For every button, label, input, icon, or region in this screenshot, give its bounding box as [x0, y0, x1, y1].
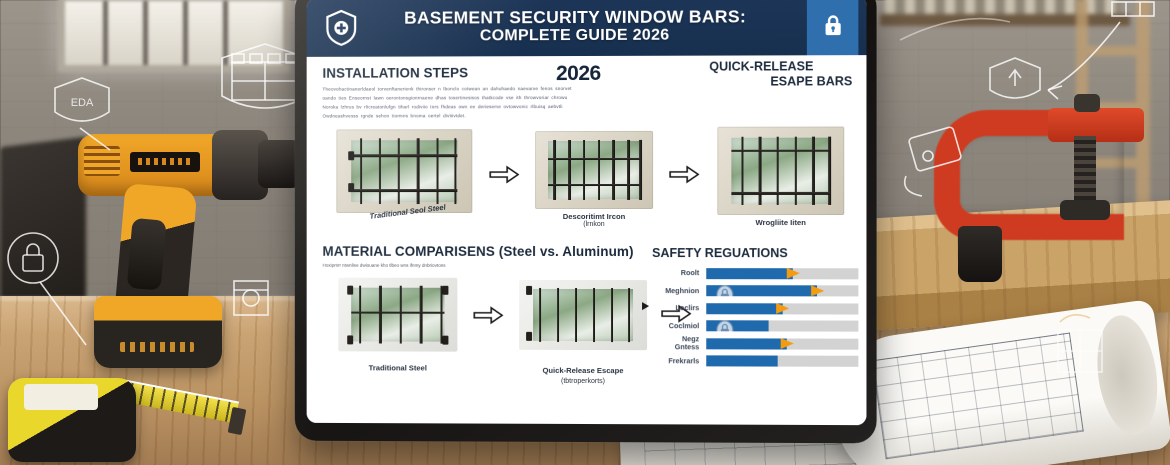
padlock-icon [823, 13, 843, 37]
bar-track [706, 355, 858, 366]
material-blurb: Hoxipntrr ntwnlise dwiouane kho tlbeo wn… [322, 262, 516, 270]
quick-release-heading: QUICK-RELEASE ESAPE BARS [691, 59, 852, 90]
safety-regulations-chart: SAFETY REGUATIONS RooltMeghnionLoclirsCo… [652, 246, 858, 372]
cursor-pointer-icon [642, 302, 649, 310]
bar-marker-triangle [811, 285, 824, 296]
infographic-title: BASEMENT SECURITY WINDOW BARS: COMPLETE … [358, 7, 807, 46]
safety-heading: SAFETY REGUATIONS [652, 246, 858, 260]
installation-blurb: Theovohactinanerldaeol torvenftanerienk … [322, 85, 576, 121]
arrow-right-icon-3 [473, 306, 503, 325]
bar-fill [706, 268, 793, 279]
window-photo-decorative-iron: Descoritimt Ircon (lrnkon [535, 131, 653, 209]
bar-row: Meghnion [652, 284, 858, 298]
bar-track [706, 285, 858, 296]
bar-marker-triangle [776, 303, 789, 314]
infographic-body: INSTALLATION STEPS 2026 QUICK-RELEASE ES… [307, 55, 867, 425]
infographic-header: BASEMENT SECURITY WINDOW BARS: COMPLETE … [307, 0, 867, 57]
window-photo-wrought-iron: Wrogliite Iiten [717, 127, 844, 215]
bar-track [706, 320, 858, 331]
cordless-drill [72, 128, 312, 378]
bar-fill [706, 338, 787, 349]
padlock-icon [716, 285, 733, 296]
bar-row: Coclmiol [652, 319, 858, 334]
window-photo-traditional-steel-2: Traditional Steel [338, 278, 457, 352]
window-photo-traditional-steel: Traditional Seol Steel [336, 129, 472, 213]
bar-fill [706, 355, 777, 366]
bar-track [706, 303, 858, 314]
bar-row: Frekrarls [652, 354, 858, 369]
tablet-device: BASEMENT SECURITY WINDOW BARS: COMPLETE … [295, 0, 877, 443]
bar-marker-triangle [781, 338, 794, 349]
photo-row-installation: Traditional Seol Steel Descoritimt I [322, 124, 866, 221]
bar-label: Roolt [652, 269, 706, 277]
bar-track [706, 268, 858, 279]
bar-chart: RooltMeghnionLoclirsCoclmiolNegzGntessFr… [652, 266, 858, 368]
basement-window-background [58, 0, 290, 72]
caption-quick-release: Quick-Release Escape [519, 362, 647, 375]
subcaption-quick-release: (tbtroperkorts) [519, 375, 647, 387]
bar-label: Loclirs [652, 304, 706, 312]
bar-marker-triangle [787, 268, 800, 279]
bar-label: Meghnion [652, 287, 706, 295]
bar-row: NegzGntess [652, 336, 858, 351]
c-clamp [898, 100, 1148, 300]
title-line-2: COMPLETE GUIDE 2026 [358, 27, 793, 46]
bar-label: NegzGntess [652, 336, 706, 351]
bar-fill [706, 303, 782, 314]
security-badge[interactable]: RDKIGS [807, 0, 858, 55]
padlock-icon [716, 320, 733, 331]
arrow-right-icon-1 [489, 165, 519, 184]
tablet-screen[interactable]: BASEMENT SECURITY WINDOW BARS: COMPLETE … [307, 0, 867, 425]
material-heading: MATERIAL COMPARISENS (Steel vs. Aluminum… [322, 244, 651, 259]
shield-plus-icon [324, 8, 358, 46]
caption-traditional-steel-2: Traditional Steel [338, 360, 457, 373]
arrow-right-icon-2 [669, 165, 699, 184]
year-label: 2026 [556, 62, 601, 86]
bar-label: Frekrarls [652, 357, 706, 365]
subcaption-decorative-iron: (lrnkon [535, 218, 653, 230]
bar-row: Loclirs [652, 301, 858, 315]
workshop-scene: EDA [0, 0, 1170, 465]
tape-measure [8, 368, 238, 464]
caption-wrought-iron: Wrogliite Iiten [717, 215, 844, 228]
title-line-1: BASEMENT SECURITY WINDOW BARS: [358, 7, 793, 28]
quick-release-line-2: ESAPE BARS [770, 75, 852, 89]
material-section: MATERIAL COMPARISENS (Steel vs. Aluminum… [322, 244, 651, 270]
quick-release-line-1: QUICK-RELEASE [691, 59, 852, 75]
bar-label: Coclmiol [652, 322, 706, 330]
window-photo-quick-release-escape: Quick-Release Escape (tbtroperkorts) [519, 280, 647, 350]
photo-row-material: Traditional Steel Quick-Release Esca [322, 272, 661, 353]
bar-track [706, 338, 858, 349]
bar-row: Roolt [652, 266, 858, 280]
